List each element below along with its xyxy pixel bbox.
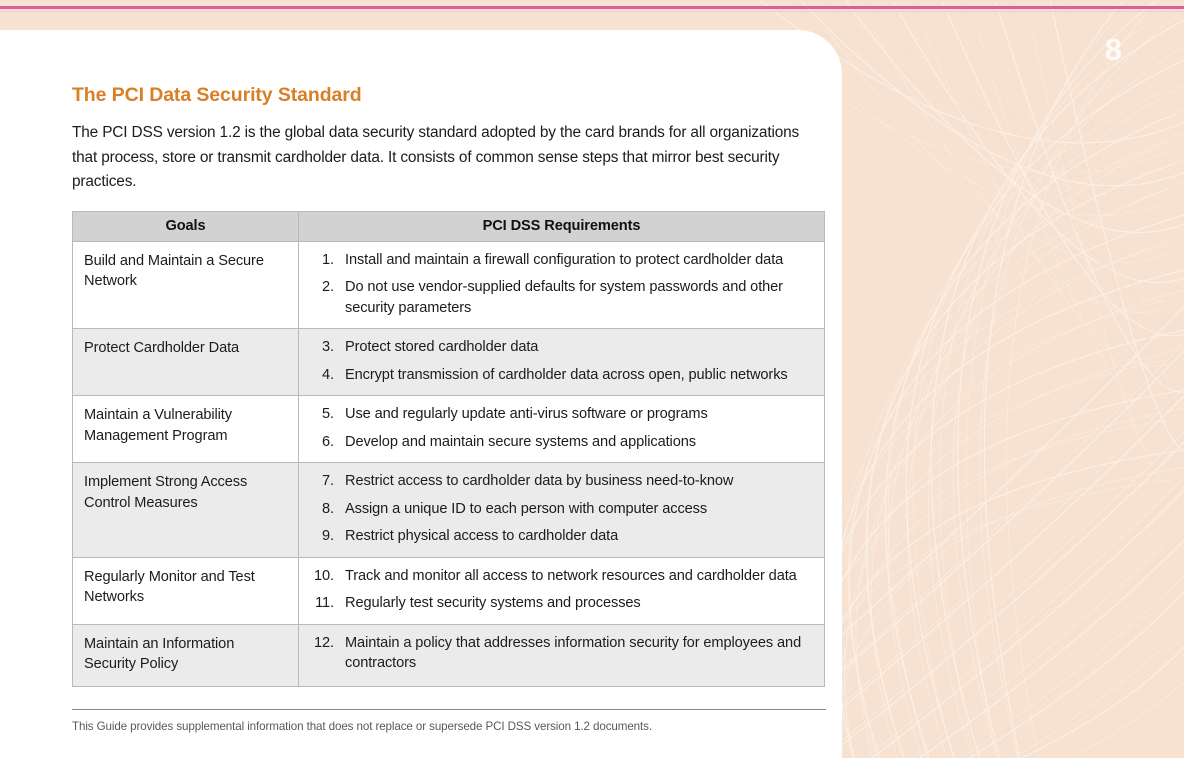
requirement-list: 12.Maintain a policy that addresses info… xyxy=(299,633,816,674)
requirement-text: Install and maintain a firewall configur… xyxy=(345,250,816,271)
requirement-number: 10. xyxy=(299,566,345,587)
requirement-number: 3. xyxy=(299,337,345,358)
requirement-item: 6.Develop and maintain secure systems an… xyxy=(299,432,816,453)
requirement-number: 7. xyxy=(299,471,345,492)
goal-cell: Implement Strong Access Control Measures xyxy=(73,463,299,558)
goal-cell: Maintain an Information Security Policy xyxy=(73,624,299,686)
pci-requirements-table: Goals PCI DSS Requirements Build and Mai… xyxy=(72,211,825,687)
column-header-goals: Goals xyxy=(73,211,299,241)
intro-paragraph: The PCI DSS version 1.2 is the global da… xyxy=(72,121,824,195)
requirement-number: 2. xyxy=(299,277,345,298)
requirement-number: 9. xyxy=(299,526,345,547)
requirement-text: Encrypt transmission of cardholder data … xyxy=(345,365,816,386)
document-page: 8 The PCI Data Security Standard The PCI… xyxy=(0,0,1184,758)
footnote-divider xyxy=(72,709,826,710)
requirement-number: 1. xyxy=(299,250,345,271)
requirement-text: Protect stored cardholder data xyxy=(345,337,816,358)
requirement-text: Regularly test security systems and proc… xyxy=(345,593,816,614)
requirement-list: 10.Track and monitor all access to netwo… xyxy=(299,566,816,614)
requirements-cell: 7.Restrict access to cardholder data by … xyxy=(299,463,825,558)
requirements-cell: 1.Install and maintain a firewall config… xyxy=(299,241,825,329)
requirement-text: Assign a unique ID to each person with c… xyxy=(345,499,816,520)
requirement-item: 2.Do not use vendor-supplied defaults fo… xyxy=(299,277,816,318)
column-header-requirements: PCI DSS Requirements xyxy=(299,211,825,241)
page-title: The PCI Data Security Standard xyxy=(72,84,826,107)
requirement-item: 1.Install and maintain a firewall config… xyxy=(299,250,816,271)
requirement-item: 7.Restrict access to cardholder data by … xyxy=(299,471,816,492)
page-number: 8 xyxy=(1105,32,1122,68)
top-hairline xyxy=(0,0,1184,1)
requirement-item: 4.Encrypt transmission of cardholder dat… xyxy=(299,365,816,386)
requirement-text: Restrict access to cardholder data by bu… xyxy=(345,471,816,492)
requirement-text: Track and monitor all access to network … xyxy=(345,566,816,587)
table-header-row: Goals PCI DSS Requirements xyxy=(73,211,825,241)
goal-cell: Build and Maintain a Secure Network xyxy=(73,241,299,329)
table-row: Maintain a Vulnerability Management Prog… xyxy=(73,396,825,463)
page-content: The PCI Data Security Standard The PCI D… xyxy=(72,84,826,734)
requirements-cell: 3.Protect stored cardholder data4.Encryp… xyxy=(299,329,825,396)
requirement-item: 12.Maintain a policy that addresses info… xyxy=(299,633,816,674)
requirements-cell: 5.Use and regularly update anti-virus so… xyxy=(299,396,825,463)
requirement-item: 9.Restrict physical access to cardholder… xyxy=(299,526,816,547)
requirement-number: 6. xyxy=(299,432,345,453)
requirement-number: 11. xyxy=(299,593,345,614)
table-row: Protect Cardholder Data3.Protect stored … xyxy=(73,329,825,396)
requirements-cell: 12.Maintain a policy that addresses info… xyxy=(299,624,825,686)
requirement-text: Use and regularly update anti-virus soft… xyxy=(345,404,816,425)
requirement-list: 7.Restrict access to cardholder data by … xyxy=(299,471,816,547)
requirement-item: 11.Regularly test security systems and p… xyxy=(299,593,816,614)
requirement-item: 3.Protect stored cardholder data xyxy=(299,337,816,358)
requirements-cell: 10.Track and monitor all access to netwo… xyxy=(299,557,825,624)
table-row: Implement Strong Access Control Measures… xyxy=(73,463,825,558)
goal-cell: Protect Cardholder Data xyxy=(73,329,299,396)
requirement-list: 1.Install and maintain a firewall config… xyxy=(299,250,816,319)
table-header: Goals PCI DSS Requirements xyxy=(73,211,825,241)
table-body: Build and Maintain a Secure Network1.Ins… xyxy=(73,241,825,686)
requirement-number: 5. xyxy=(299,404,345,425)
table-row: Maintain an Information Security Policy1… xyxy=(73,624,825,686)
table-row: Regularly Monitor and Test Networks10.Tr… xyxy=(73,557,825,624)
requirement-number: 4. xyxy=(299,365,345,386)
magenta-rule-light xyxy=(0,11,1184,12)
table-row: Build and Maintain a Secure Network1.Ins… xyxy=(73,241,825,329)
goal-cell: Regularly Monitor and Test Networks xyxy=(73,557,299,624)
magenta-rule xyxy=(0,6,1184,9)
goal-cell: Maintain a Vulnerability Management Prog… xyxy=(73,396,299,463)
requirement-list: 3.Protect stored cardholder data4.Encryp… xyxy=(299,337,816,385)
requirement-text: Restrict physical access to cardholder d… xyxy=(345,526,816,547)
requirement-text: Develop and maintain secure systems and … xyxy=(345,432,816,453)
requirement-list: 5.Use and regularly update anti-virus so… xyxy=(299,404,816,452)
requirement-text: Maintain a policy that addresses informa… xyxy=(345,633,816,674)
requirement-number: 12. xyxy=(299,633,345,654)
requirement-item: 8.Assign a unique ID to each person with… xyxy=(299,499,816,520)
requirement-number: 8. xyxy=(299,499,345,520)
requirement-text: Do not use vendor-supplied defaults for … xyxy=(345,277,816,318)
requirement-item: 5.Use and regularly update anti-virus so… xyxy=(299,404,816,425)
requirement-item: 10.Track and monitor all access to netwo… xyxy=(299,566,816,587)
footnote-text: This Guide provides supplemental informa… xyxy=(72,719,826,734)
